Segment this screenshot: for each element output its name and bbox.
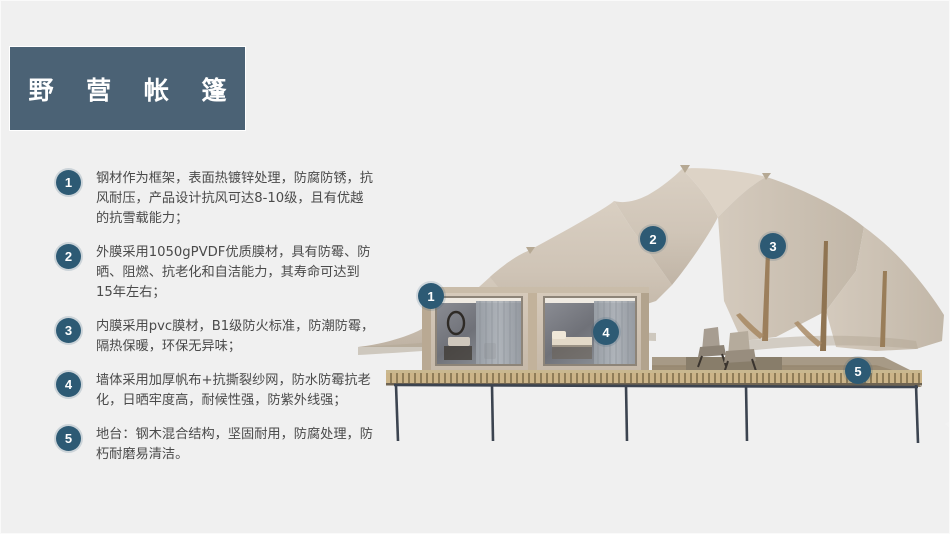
- feature-number-badge-2: 2: [56, 244, 81, 269]
- feature-text-5: 地台：钢木混合结构，坚固耐用，防腐处理，防朽耐磨易清洁。: [96, 425, 376, 465]
- cabin-header-trim: [422, 287, 649, 293]
- bed-base: [552, 345, 592, 359]
- callout-badge-3: 3: [760, 233, 786, 259]
- feature-text-2: 外膜采用1050gPVDF优质膜材，具有防霉、防晒、阻燃、抗老化和自洁能力，其寿…: [96, 243, 376, 303]
- feature-text-4: 墙体采用加厚帆布+抗撕裂纱网，防水防霉抗老化，日晒牢度高，耐候性强，防紫外线强；: [96, 371, 376, 411]
- curtain-left-window: [476, 301, 522, 365]
- feature-list: 1 钢材作为框架，表面热镀锌处理，防腐防锈，抗风耐压，产品设计抗风可达8-10级…: [56, 169, 376, 479]
- feature-number-badge-5: 5: [56, 426, 81, 451]
- bathroom-vanity: [444, 346, 472, 360]
- bathroom-basin: [448, 337, 470, 346]
- feature-text-1: 钢材作为框架，表面热镀锌处理，防腐防锈，抗风耐压，产品设计抗风可达8-10级，且…: [96, 169, 376, 229]
- bed-pillow: [552, 331, 566, 339]
- feature-number-badge-4: 4: [56, 372, 81, 397]
- list-item: 3 内膜采用pvc膜材，B1级防火标准，防潮防霉，隔热保暖，环保无异味；: [56, 317, 376, 357]
- window-bedroom: [544, 297, 636, 365]
- list-item: 1 钢材作为框架，表面热镀锌处理，防腐防锈，抗风耐压，产品设计抗风可达8-10级…: [56, 169, 376, 229]
- tent-illustration: [356, 151, 946, 481]
- feature-text-3: 内膜采用pvc膜材，B1级防火标准，防潮防霉，隔热保暖，环保无异味；: [96, 317, 376, 357]
- callout-badge-2: 2: [640, 226, 666, 252]
- corner-post-right: [641, 289, 649, 373]
- feature-number-badge-1: 1: [56, 170, 81, 195]
- corner-post-centre: [528, 289, 537, 373]
- list-item: 2 外膜采用1050gPVDF优质膜材，具有防霉、防晒、阻燃、抗老化和自洁能力，…: [56, 243, 376, 303]
- window-bathroom: [436, 297, 522, 365]
- list-item: 5 地台：钢木混合结构，坚固耐用，防腐处理，防朽耐磨易清洁。: [56, 425, 376, 465]
- slide-root: 野 营 帐 篷 1 钢材作为框架，表面热镀锌处理，防腐防锈，抗风耐压，产品设计抗…: [0, 0, 950, 534]
- callout-badge-4: 4: [593, 319, 619, 345]
- page-title-banner: 野 营 帐 篷: [9, 46, 246, 131]
- deck-fascia: [386, 372, 922, 384]
- callout-badge-1: 1: [418, 283, 444, 309]
- list-item: 4 墙体采用加厚帆布+抗撕裂纱网，防水防霉抗老化，日晒牢度高，耐候性强，防紫外线…: [56, 371, 376, 411]
- page-title: 野 营 帐 篷: [16, 71, 238, 107]
- feature-number-badge-3: 3: [56, 318, 81, 343]
- callout-badge-5: 5: [845, 358, 871, 384]
- deck-legs: [394, 385, 918, 443]
- tent-render-svg: [356, 151, 946, 481]
